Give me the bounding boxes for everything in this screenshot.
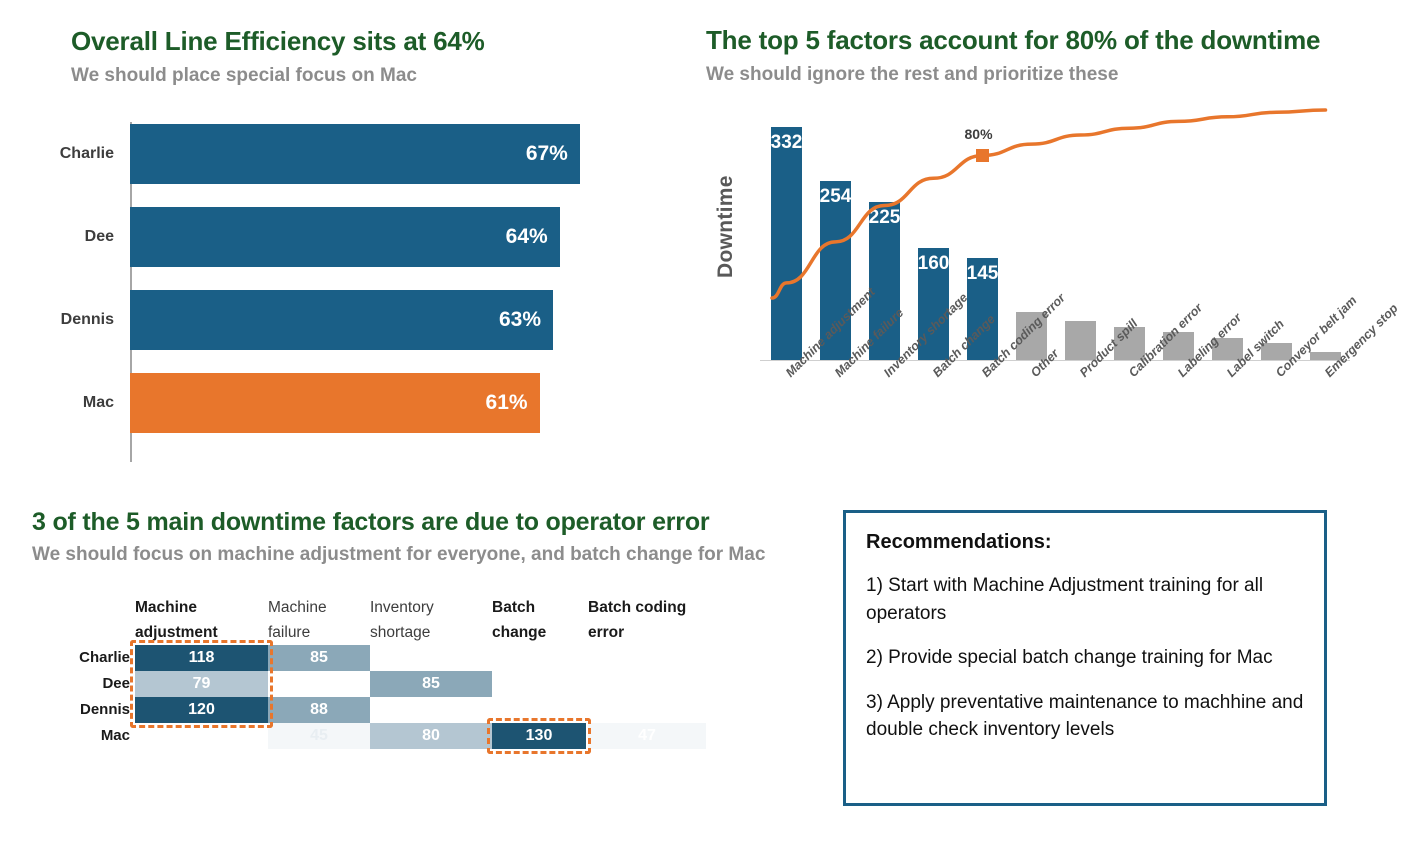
heatmap-row-label: Charlie bbox=[10, 645, 130, 671]
heatmap-column-header: Machine adjustment bbox=[135, 595, 268, 645]
heatmap-column-header: Batch change bbox=[492, 595, 587, 645]
bar-value-label: 61% bbox=[486, 391, 528, 415]
heatmap-title: 3 of the 5 main downtime factors are due… bbox=[32, 508, 709, 537]
line-efficiency-panel: Overall Line Efficiency sits at 64% We s… bbox=[0, 0, 690, 490]
heatmap-cell[interactable]: 45 bbox=[268, 723, 370, 749]
heatmap-cell[interactable]: 118 bbox=[135, 645, 268, 671]
pareto-y-axis-label: Downtime bbox=[714, 175, 738, 278]
bar-value-label: 63% bbox=[499, 308, 541, 332]
bar-fill: 63% bbox=[130, 290, 553, 350]
heatmap-cell[interactable]: 130 bbox=[492, 723, 586, 749]
pareto-category-label: Conveyor belt jam bbox=[1273, 293, 1360, 380]
pareto-title: The top 5 factors account for 80% of the… bbox=[706, 25, 1320, 56]
recommendation-item-1: 1) Start with Machine Adjustment trainin… bbox=[866, 572, 1304, 627]
line-efficiency-title: Overall Line Efficiency sits at 64% bbox=[71, 26, 485, 57]
heatmap-cell[interactable]: 80 bbox=[370, 723, 492, 749]
bar-row-charlie[interactable]: Charlie 67% bbox=[130, 124, 600, 184]
heatmap-cell[interactable]: 85 bbox=[370, 671, 492, 697]
pareto-bar-value-label: 145 bbox=[967, 263, 999, 285]
bar-value-label: 67% bbox=[526, 142, 568, 166]
heatmap-column-header: Batch coding error bbox=[588, 595, 706, 645]
pareto-bar-value-label: 225 bbox=[869, 207, 901, 229]
pareto-category-labels: Machine adjustmentMachine failureInvento… bbox=[690, 362, 1407, 482]
heatmap-panel: 3 of the 5 main downtime factors are due… bbox=[0, 490, 830, 854]
bar-row-dee[interactable]: Dee 64% bbox=[130, 207, 600, 267]
bar-fill: 64% bbox=[130, 207, 560, 267]
pareto-bar[interactable]: 332 bbox=[771, 127, 801, 360]
recommendation-item-2: 2) Provide special batch change training… bbox=[866, 644, 1304, 672]
heatmap-column-header: Inventory shortage bbox=[370, 595, 490, 645]
heatmap-row-label: Dee bbox=[10, 671, 130, 697]
bar-category-label: Dee bbox=[85, 228, 114, 246]
pareto-chart: Downtime 332254225160145 80% Machine adj… bbox=[690, 100, 1407, 480]
recommendations-heading: Recommendations: bbox=[866, 531, 1304, 554]
heatmap-cell[interactable]: 85 bbox=[268, 645, 370, 671]
pareto-bar-value-label: 160 bbox=[918, 253, 950, 275]
bar-fill-highlighted: 61% bbox=[130, 373, 540, 433]
heatmap-row-label: Mac bbox=[10, 723, 130, 749]
recommendations-box: Recommendations: 1) Start with Machine A… bbox=[843, 510, 1327, 806]
heatmap-grid: Machine adjustmentMachine failureInvento… bbox=[0, 595, 830, 795]
dashboard-page: Overall Line Efficiency sits at 64% We s… bbox=[0, 0, 1407, 854]
heatmap-column-header: Machine failure bbox=[268, 595, 368, 645]
cumulative-point-label: 80% bbox=[965, 126, 993, 142]
heatmap-cell[interactable]: 88 bbox=[268, 697, 370, 723]
heatmap-row-label: Dennis bbox=[10, 697, 130, 723]
line-efficiency-subtitle: We should place special focus on Mac bbox=[71, 65, 417, 87]
bar-category-label: Mac bbox=[83, 394, 114, 412]
line-efficiency-chart: Charlie 67% Dee 64% Dennis 63% Mac bbox=[130, 122, 600, 462]
bar-row-mac[interactable]: Mac 61% bbox=[130, 373, 600, 433]
heatmap-cell[interactable]: 47 bbox=[588, 723, 706, 749]
bar-value-label: 64% bbox=[506, 225, 548, 249]
pareto-bar-value-label: 254 bbox=[820, 186, 852, 208]
pareto-panel: The top 5 factors account for 80% of the… bbox=[690, 0, 1407, 490]
recommendation-item-3: 3) Apply preventative maintenance to mac… bbox=[866, 689, 1304, 744]
bar-category-label: Charlie bbox=[60, 145, 114, 163]
heatmap-cell[interactable]: 120 bbox=[135, 697, 268, 723]
bar-fill: 67% bbox=[130, 124, 580, 184]
heatmap-subtitle: We should focus on machine adjustment fo… bbox=[32, 544, 765, 566]
pareto-subtitle: We should ignore the rest and prioritize… bbox=[706, 64, 1118, 86]
pareto-bar-value-label: 332 bbox=[771, 132, 803, 154]
bar-row-dennis[interactable]: Dennis 63% bbox=[130, 290, 600, 350]
heatmap-cell[interactable]: 79 bbox=[135, 671, 268, 697]
bar-category-label: Dennis bbox=[61, 311, 114, 329]
